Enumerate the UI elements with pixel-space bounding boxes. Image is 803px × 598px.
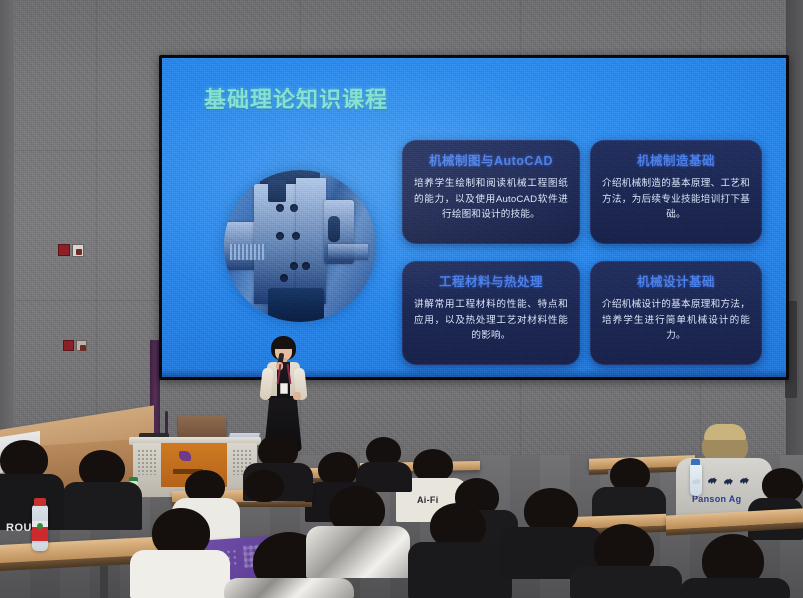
presenter-id-badge bbox=[280, 383, 288, 394]
audience-head bbox=[244, 470, 284, 502]
alarm-red-box bbox=[58, 244, 70, 256]
audience-shoulders-tiedye bbox=[306, 526, 410, 578]
cnc-lathe-machine-photo bbox=[224, 170, 376, 322]
slide-card-3-body: 讲解常用工程材料的性能、特点和应用，以及热处理工艺对材料性能的影响。 bbox=[414, 297, 568, 344]
water-bottle bbox=[32, 505, 48, 551]
presenter-hand-right bbox=[293, 392, 301, 400]
audience-shoulders bbox=[62, 482, 142, 530]
tshirt-graphic-text: Panson Ag bbox=[692, 494, 741, 504]
slide-card-4: 机械设计基础 介绍机械设计的基本原理和方法，培养学生进行简单机械设计的能力。 bbox=[590, 261, 762, 365]
slide-card-4-body: 介绍机械设计的基本原理和方法，培养学生进行简单机械设计的能力。 bbox=[602, 297, 750, 344]
desk-leg bbox=[100, 566, 108, 598]
bottle-cap bbox=[691, 459, 700, 465]
slide-card-2-title: 机械制造基础 bbox=[602, 150, 750, 169]
slide-surface: 基础理论知识课程 bbox=[162, 58, 786, 377]
lecture-hall-scene: 基础理论知识课程 bbox=[0, 0, 803, 598]
slide-title: 基础理论知识课程 bbox=[204, 82, 388, 114]
bottle-label bbox=[32, 521, 48, 541]
bottle-cap bbox=[34, 498, 46, 506]
water-bottle bbox=[690, 464, 702, 496]
slide-card-1-body: 培养学生绘制和阅读机械工程图纸的能力，以及使用AutoCAD软件进行绘图和设计的… bbox=[414, 176, 568, 223]
alarm-red-box bbox=[63, 340, 74, 351]
audience-shoulders bbox=[680, 578, 790, 598]
podium-speaker-grille bbox=[137, 449, 157, 475]
audience-shoulders bbox=[570, 566, 682, 598]
audience-shoulders bbox=[408, 542, 512, 598]
slide-card-1: 机械制图与AutoCAD 培养学生绘制和阅读机械工程图纸的能力，以及使用Auto… bbox=[402, 140, 580, 244]
alarm-white-box bbox=[76, 340, 87, 351]
presenter-fringe bbox=[273, 338, 294, 349]
slide-card-2: 机械制造基础 介绍机械制造的基本原理、工艺和方法，为后续专业技能培训打下基础。 bbox=[590, 140, 762, 244]
audience-head bbox=[318, 452, 358, 486]
led-presentation-screen: 基础理论知识课程 bbox=[159, 55, 789, 380]
slide-card-1-title: 机械制图与AutoCAD bbox=[414, 150, 568, 169]
audience-shoulders bbox=[130, 550, 230, 598]
slide-card-4-title: 机械设计基础 bbox=[602, 271, 750, 290]
slide-card-3: 工程材料与热处理 讲解常用工程材料的性能、特点和应用，以及热处理工艺对材料性能的… bbox=[402, 261, 580, 365]
alarm-white-box bbox=[72, 244, 84, 257]
fire-alarm-call-point-icon bbox=[58, 244, 86, 258]
slide-card-2-body: 介绍机械制造的基本原理、工艺和方法，为后续专业技能培训打下基础。 bbox=[602, 176, 750, 223]
wall-panel-seam bbox=[96, 0, 97, 470]
slide-card-3-title: 工程材料与热处理 bbox=[414, 271, 568, 290]
tshirt-graphic-text: Ai-Fi bbox=[417, 495, 439, 505]
podium-logo-icon bbox=[179, 451, 191, 461]
audience-head bbox=[762, 468, 803, 502]
audience-hair-highlight bbox=[704, 424, 746, 440]
left-wall-return bbox=[0, 0, 14, 470]
fire-alarm-call-point-icon bbox=[63, 340, 89, 353]
audience-shoulders-tiedye bbox=[224, 578, 354, 598]
